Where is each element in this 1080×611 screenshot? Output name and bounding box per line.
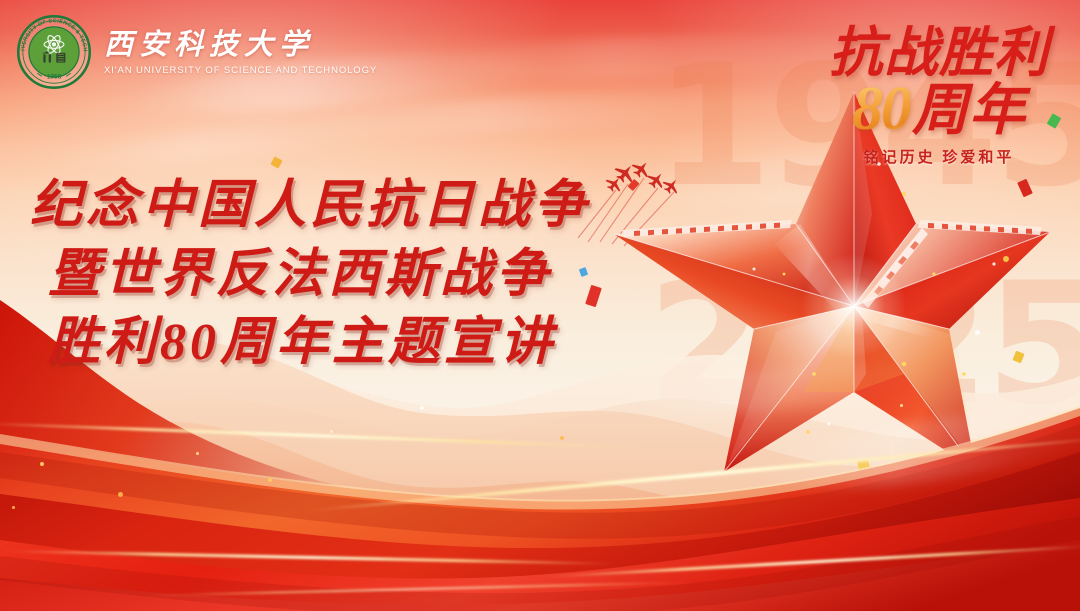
spark-dot	[900, 404, 903, 407]
university-name-cn: 西安科技大学	[104, 30, 377, 62]
headline-unit: 周年	[912, 83, 1026, 139]
headline-number: 80	[852, 78, 910, 140]
university-name-en: XI'AN UNIVERSITY OF SCIENCE AND TECHNOLO…	[104, 65, 377, 76]
title-line-3: 胜利80周年主题宣讲	[48, 309, 590, 378]
university-branding: XI'AN UNIVERSITY OF SCIENCE & TECHNOLOGY…	[16, 14, 377, 90]
university-name-block: 西安科技大学 XI'AN UNIVERSITY OF SCIENCE AND T…	[104, 28, 377, 76]
spark-dot	[118, 492, 123, 497]
anniversary-headline: 抗战胜利 80 周年 铭记历史 珍爱和平	[814, 26, 1064, 167]
title-line-1: 纪念中国人民抗日战争	[30, 172, 590, 241]
spark-dot	[268, 478, 272, 482]
spark-dot	[196, 452, 199, 455]
headline-subtitle: 铭记历史 珍爱和平	[814, 146, 1064, 167]
spark-dot	[40, 462, 44, 466]
university-seal-icon: XI'AN UNIVERSITY OF SCIENCE & TECHNOLOGY…	[16, 14, 92, 90]
poster-canvas: 1945 2025	[0, 0, 1080, 611]
spark-dot	[560, 436, 564, 440]
spark-dot	[330, 430, 333, 433]
spark-dot	[420, 406, 424, 410]
title-line-2: 暨世界反法西斯战争	[48, 241, 590, 310]
spark-dot	[806, 430, 810, 434]
seal-founding-year: 1958	[47, 74, 62, 81]
headline-main: 抗战胜利	[814, 26, 1064, 80]
page-title: 纪念中国人民抗日战争 暨世界反法西斯战争 胜利80周年主题宣讲	[30, 172, 590, 378]
spark-dot	[12, 506, 15, 509]
headline-anniversary-row: 80 周年	[814, 78, 1064, 140]
